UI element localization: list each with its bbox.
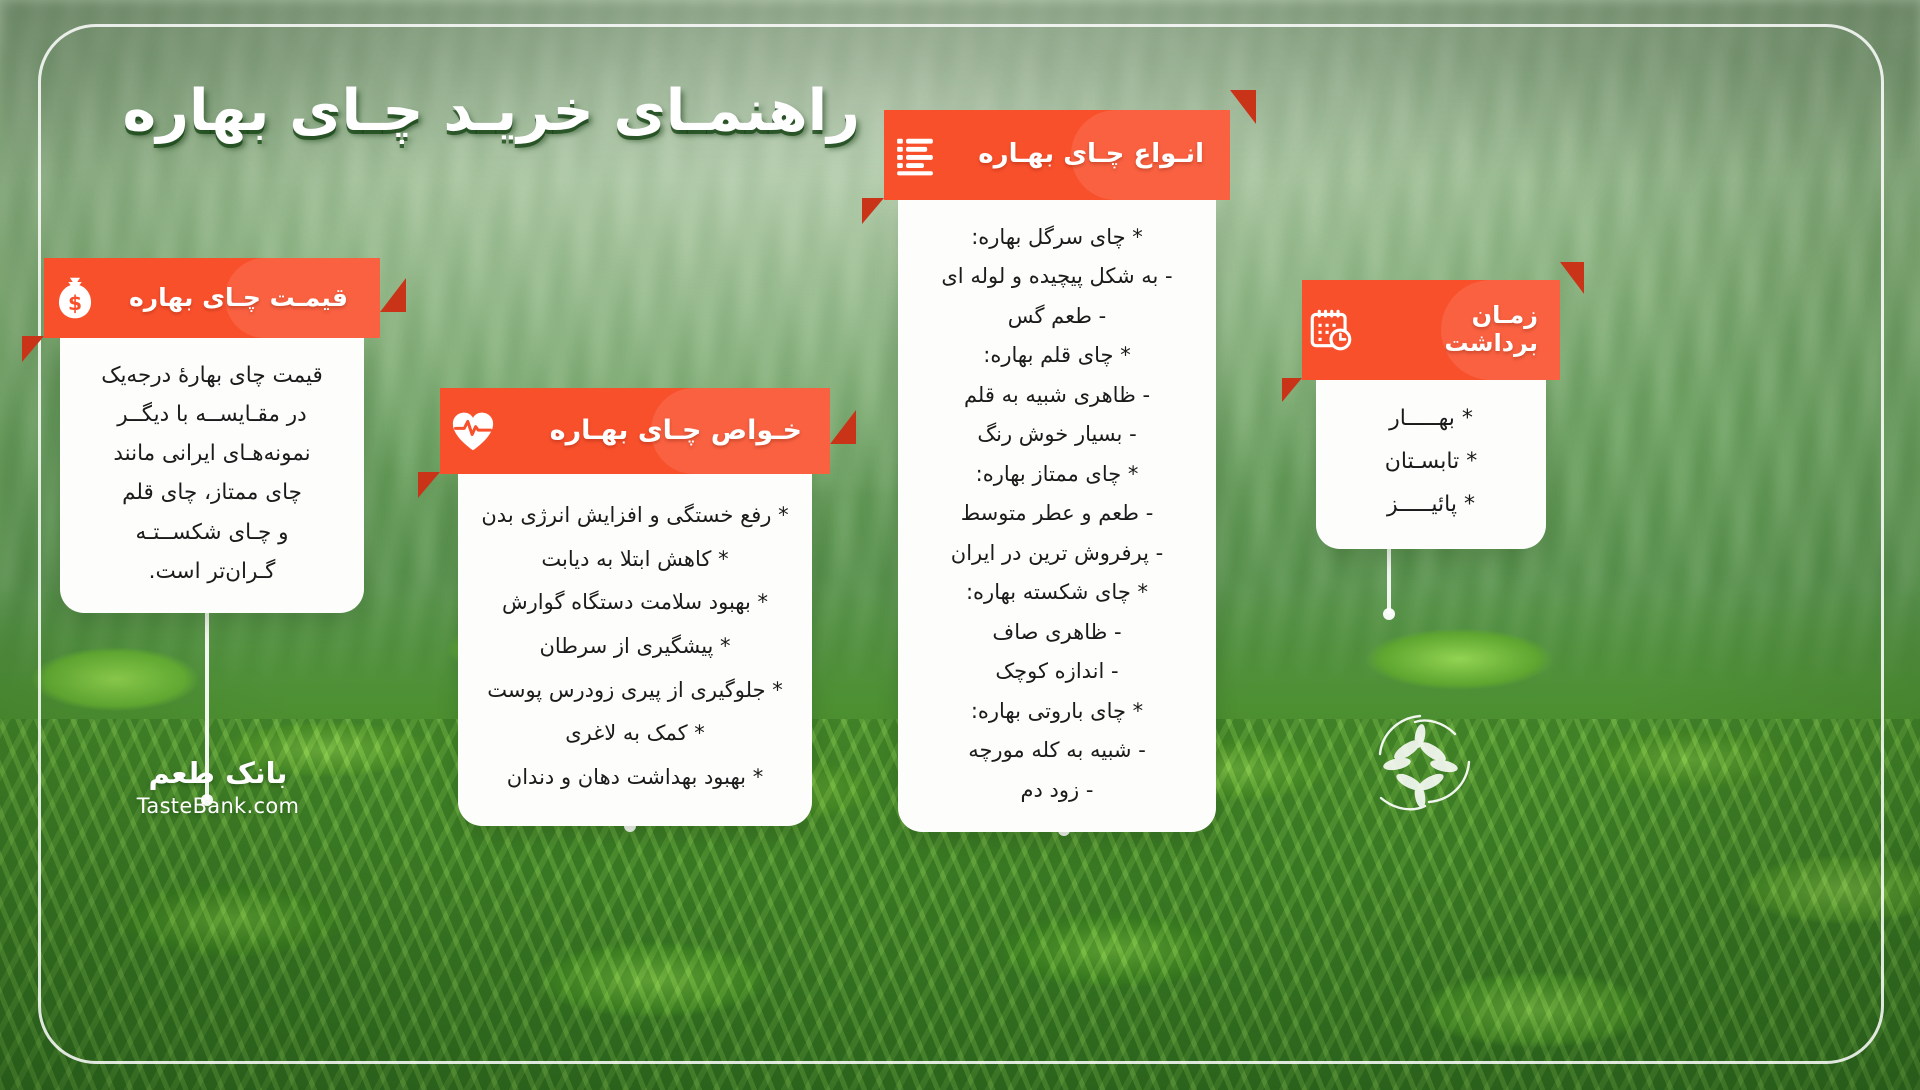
card-types-line: - بسیار خوش رنگ bbox=[908, 415, 1206, 454]
ribbon-fold-bottom-left bbox=[862, 198, 884, 224]
card-harvest-time-title-line2: برداشت bbox=[1445, 330, 1539, 358]
money-bag-icon: $ bbox=[44, 267, 106, 329]
card-price-line: چای ممتاز، چای قلم bbox=[74, 473, 350, 512]
card-price-line: قیمت چای بهارۀ درجه‌یک bbox=[74, 356, 350, 395]
ribbon-fold-top-right bbox=[1230, 90, 1256, 124]
card-types-line: - ظاهری صاف bbox=[908, 613, 1206, 652]
brand-name-en: TasteBank.com bbox=[118, 794, 318, 818]
card-properties-line: * جلوگیری از پیری زودرس پوست bbox=[470, 669, 800, 713]
card-price-line: و چـای شکســتـه bbox=[74, 513, 350, 552]
card-price-header: قیمـت چـای بهاره $ bbox=[44, 258, 380, 338]
card-types-line: - طعم گس bbox=[908, 297, 1206, 336]
card-types-line: - شبیه به کله مورچه bbox=[908, 731, 1206, 770]
connector-stem-harvest bbox=[1387, 544, 1391, 614]
card-properties-line: * بهبود سلامت دستگاه گوارش bbox=[470, 581, 800, 625]
card-types-line: - اندازه کوچک bbox=[908, 652, 1206, 691]
card-types-line: * چای سرگل بهاره: bbox=[908, 218, 1206, 257]
card-price-line: در مقـایســه با دیگــر bbox=[74, 395, 350, 434]
card-price-body: قیمت چای بهارۀ درجه‌یک در مقـایســه با د… bbox=[60, 338, 364, 613]
page-title: راهنمـای خریـد چـای بهاره bbox=[123, 78, 860, 144]
card-harvest-time-line: * پائیـــــز bbox=[1326, 484, 1536, 527]
card-harvest-time-body: * بهـــــار * تابسـتان * پائیـــــز bbox=[1316, 380, 1546, 549]
card-types: انـواع چـای بهـاره * چای سرگل بهاره: - ب… bbox=[884, 110, 1230, 832]
ribbon-fold-bottom-left bbox=[1282, 378, 1302, 402]
ribbon-fold-bottom-left bbox=[418, 472, 440, 498]
card-properties: خـواص چـای بهـاره * رفع خستگی و افزایش ا… bbox=[440, 388, 830, 826]
leaf-wreath-decoration bbox=[1345, 690, 1495, 840]
card-types-line: * چای باروتی بهاره: bbox=[908, 692, 1206, 731]
card-types-line: - پرفروش ترین در ایران bbox=[908, 534, 1206, 573]
card-types-line: - زود دم bbox=[908, 771, 1206, 810]
calendar-clock-icon bbox=[1302, 301, 1360, 359]
card-harvest-time-header: زمـان برداشت bbox=[1302, 280, 1560, 380]
brand-name-fa: بانک طعم bbox=[118, 758, 318, 790]
ribbon-fold-top-right bbox=[1560, 262, 1584, 294]
card-harvest-time-title-line1: زمـان bbox=[1445, 302, 1539, 330]
card-harvest-time-title: زمـان برداشت bbox=[1445, 302, 1539, 357]
svg-text:$: $ bbox=[68, 291, 82, 315]
card-types-line: * چای ممتاز بهاره: bbox=[908, 455, 1206, 494]
card-properties-line: * پیشگیری از سرطان bbox=[470, 625, 800, 669]
card-types-title: انـواع چـای بهـاره bbox=[978, 140, 1204, 170]
card-harvest-time: زمـان برداشت * بهـــــار * تابسـتا bbox=[1302, 280, 1560, 549]
card-types-line: * چای شکسته بهاره: bbox=[908, 573, 1206, 612]
card-properties-line: * کاهش ابتلا به دیابت bbox=[470, 538, 800, 582]
card-price: قیمـت چـای بهاره $ قیمت چای بهارۀ درجه‌ی… bbox=[44, 258, 380, 613]
card-properties-line: * بهبود بهداشت دهان و دندان bbox=[470, 756, 800, 800]
card-harvest-time-line: * تابسـتان bbox=[1326, 441, 1536, 484]
card-types-line: - طعم و عطر متوسط bbox=[908, 494, 1206, 533]
heart-pulse-icon bbox=[440, 398, 506, 464]
list-document-icon bbox=[884, 124, 946, 186]
ribbon-fold-bottom-left bbox=[22, 336, 44, 362]
card-properties-header: خـواص چـای بهـاره bbox=[440, 388, 830, 474]
card-price-title: قیمـت چـای بهاره bbox=[129, 284, 354, 313]
card-price-line: گـران‌تر است. bbox=[74, 552, 350, 591]
card-price-line: نمونه‌هـای ایرانی مانند bbox=[74, 434, 350, 473]
card-types-line: - به شکل پیچیده و لوله ای bbox=[908, 257, 1206, 296]
card-types-line: - ظاهری شبیه به قلم bbox=[908, 376, 1206, 415]
ribbon-fold-top-right bbox=[380, 278, 406, 312]
card-types-line: * چای قلم بهاره: bbox=[908, 336, 1206, 375]
card-types-body: * چای سرگل بهاره: - به شکل پیچیده و لوله… bbox=[898, 200, 1216, 832]
ribbon-fold-top-right bbox=[830, 410, 856, 444]
card-properties-body: * رفع خستگی و افزایش انرژی بدن * کاهش اب… bbox=[458, 474, 812, 826]
card-harvest-time-line: * بهـــــار bbox=[1326, 398, 1536, 441]
card-properties-line: * رفع خستگی و افزایش انرژی بدن bbox=[470, 494, 800, 538]
card-properties-title: خـواص چـای بهـاره bbox=[550, 415, 802, 446]
brand-logo: بانک طعم TasteBank.com bbox=[118, 758, 318, 818]
card-types-header: انـواع چـای بهـاره bbox=[884, 110, 1230, 200]
card-properties-line: * کمک به لاغری bbox=[470, 712, 800, 756]
